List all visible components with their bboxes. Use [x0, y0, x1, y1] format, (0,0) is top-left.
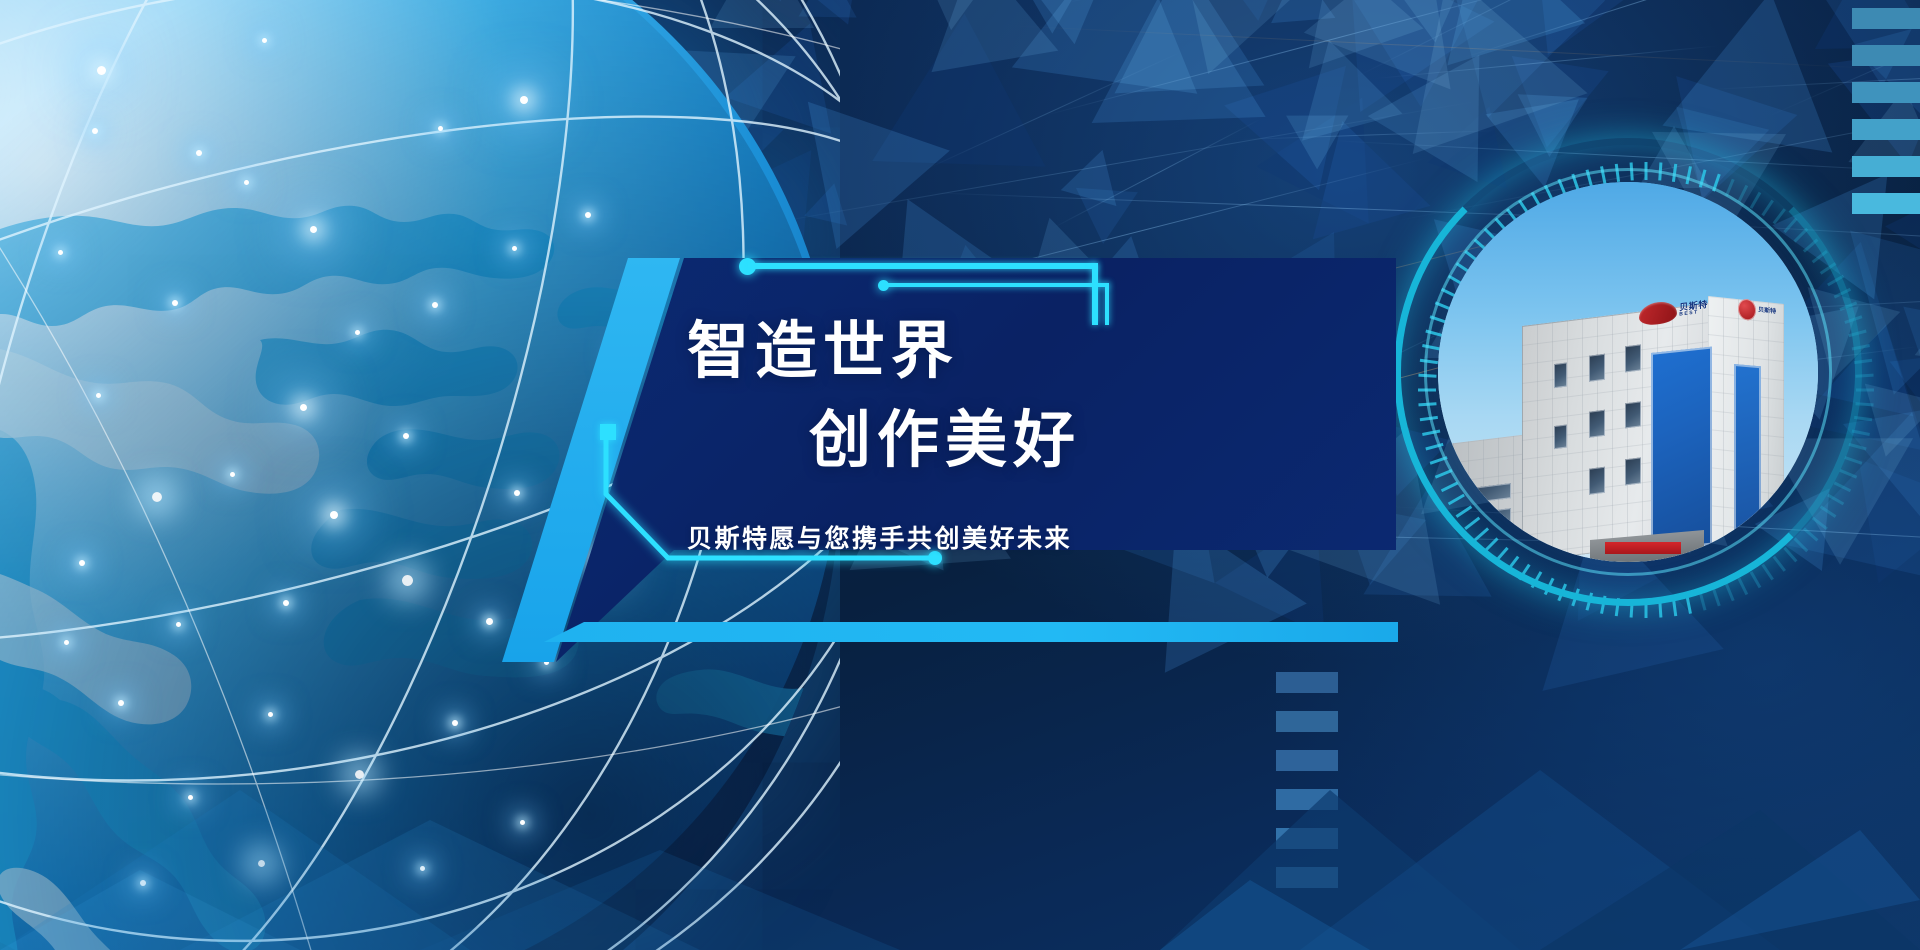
decor-bar: [1852, 45, 1920, 66]
circuit-node-square-bottom-left: [600, 424, 616, 440]
headline-line-2: 创作美好: [809, 410, 1081, 472]
company-photo-circle: 贝斯特 BEST 贝斯特: [1438, 182, 1818, 562]
circuit-line-top-2-elbow: [1105, 283, 1109, 325]
subtitle-text: 贝斯特愿与您携手共创美好未来: [687, 519, 1072, 555]
headline-line-1: 智造世界: [687, 321, 959, 383]
building-glass-curtain-2: [1734, 364, 1761, 534]
circuit-line-top: [752, 263, 1097, 269]
sign-label-secondary: 贝斯特: [1758, 307, 1776, 315]
decor-bar: [1852, 193, 1920, 214]
headline-panel: 智造世界 创作美好 贝斯特愿与您携手共创美好未来: [556, 258, 1396, 662]
building-sign-secondary: 贝斯特: [1738, 295, 1791, 327]
right-edge-bar-stack: [1852, 8, 1920, 238]
building-photo: 贝斯特 BEST 贝斯特: [1438, 182, 1818, 562]
decor-bar: [1852, 8, 1920, 29]
sign-label-en: BEST: [1680, 309, 1709, 318]
bottom-right-facets: [1160, 620, 1920, 950]
decor-bar: [1852, 119, 1920, 140]
bottom-left-facets: [0, 650, 980, 950]
circuit-line-top-2: [886, 283, 1109, 287]
building-red-banner: [1605, 542, 1681, 554]
hero-banner: 贝斯特 BEST 贝斯特: [0, 0, 1920, 950]
circuit-line-top-elbow: [1092, 263, 1098, 325]
decor-bar: [1852, 82, 1920, 103]
decor-bar: [1852, 156, 1920, 177]
building-glass-curtain: [1651, 347, 1712, 551]
sign-badge-icon: [1738, 298, 1756, 321]
sign-logo-mark: [1639, 300, 1677, 327]
